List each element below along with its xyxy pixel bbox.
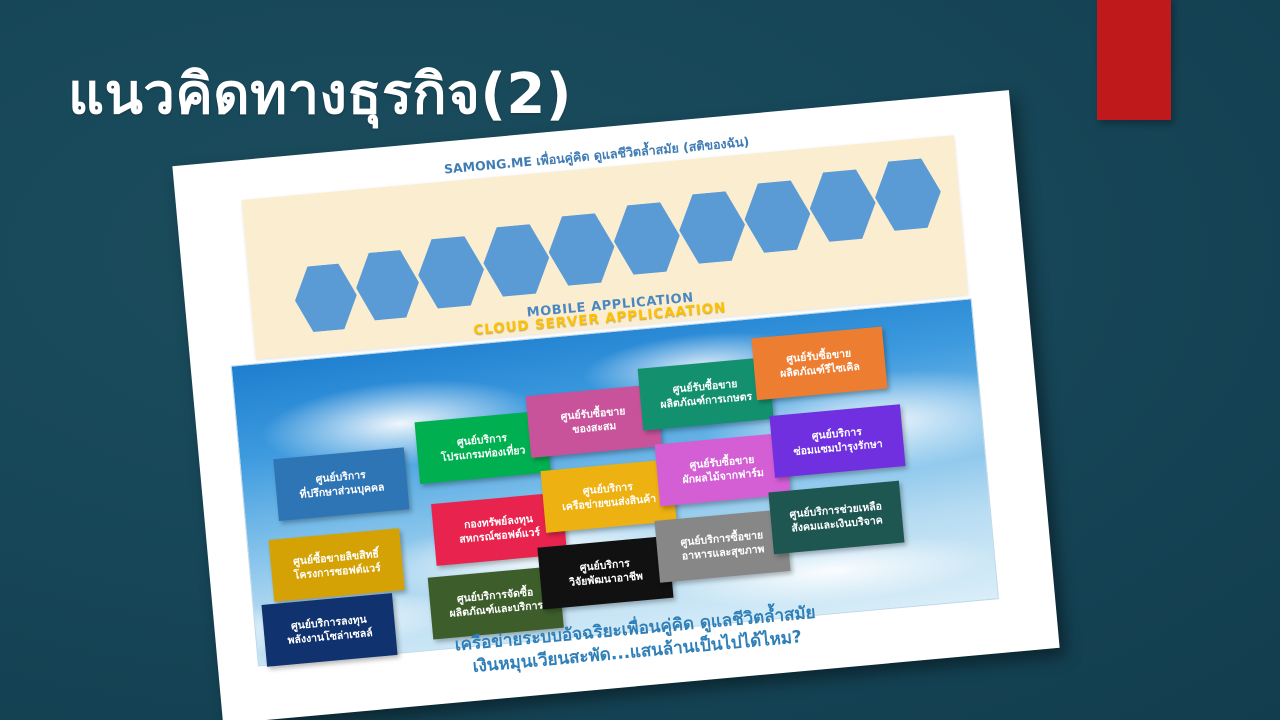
hexagon-icon — [353, 246, 422, 323]
photo-card-frame: SAMONG.ME เพื่อนคู่คิด ดูแลชีวิตล้ำสมัย … — [172, 90, 1059, 720]
service-box[interactable]: ศูนย์บริการช่วยเหลือ สังคมและเงินบริจาค — [768, 481, 904, 555]
hexagon-icon — [545, 210, 617, 290]
diagram-card[interactable]: SAMONG.ME เพื่อนคู่คิด ดูแลชีวิตล้ำสมัย … — [172, 90, 1059, 720]
service-box[interactable]: ศูนย์ซื้อขายลิขสิทธิ์ โครงการซอฟต์แวร์ — [269, 528, 405, 602]
service-box[interactable]: ศูนย์บริการ ที่ปรึกษาส่วนบุคคล — [273, 447, 409, 521]
hexagon-icon — [872, 155, 944, 235]
service-box[interactable]: ศูนย์บริการ วิจัยพัฒนาอาชีพ — [537, 536, 673, 610]
hexagon-icon — [676, 188, 748, 268]
service-box[interactable]: ศูนย์รับซื้อขาย ผลิตภัณฑ์รีไซเคิล — [751, 327, 887, 401]
service-box[interactable]: ศูนย์บริการ ซ่อมแซมบำรุงรักษา — [769, 404, 905, 478]
hexagon-icon — [806, 166, 878, 246]
presentation-slide: แนวคิดทางธุรกิจ(2) SAMONG.ME เพื่อนคู่คิ… — [0, 0, 1280, 720]
red-accent-bar — [1097, 0, 1171, 120]
hexagon-icon — [415, 233, 487, 313]
hexagon-icon — [741, 177, 813, 257]
hexagon-icon — [611, 199, 683, 279]
business-concept-diagram: SAMONG.ME เพื่อนคู่คิด ดูแลชีวิตล้ำสมัย … — [203, 129, 1027, 694]
hexagon-icon — [480, 221, 552, 301]
page-title: แนวคิดทางธุรกิจ(2) — [68, 66, 572, 125]
